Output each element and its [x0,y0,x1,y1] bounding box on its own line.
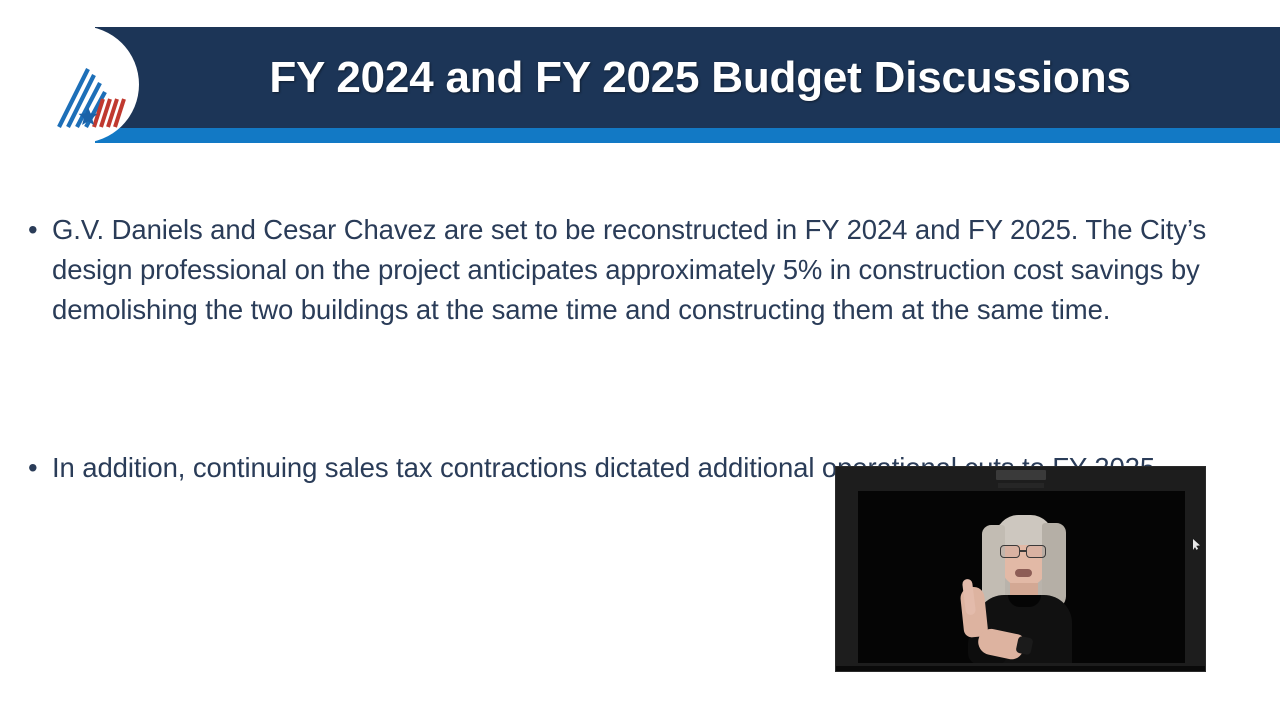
video-stage [858,491,1185,663]
presentation-slide: FY 2024 and FY 2025 Budget Discussions •… [0,0,1280,720]
city-of-arlington-logo-icon [47,67,129,129]
logo-disc [22,26,139,143]
sign-language-interpreter-video[interactable] [835,466,1206,672]
video-bottom-bar [836,666,1206,671]
interpreter-glasses-icon [1000,545,1048,558]
header-accent-underline [95,128,1280,143]
bullet-text: G.V. Daniels and Cesar Chavez are set to… [52,210,1222,330]
page-title: FY 2024 and FY 2025 Budget Discussions [160,27,1240,128]
bullet-marker-icon: • [28,448,52,488]
mouse-cursor-icon [1193,539,1200,550]
bullet-marker-icon: • [28,210,52,250]
glasses-lens-right [1026,545,1046,558]
glasses-lens-left [1000,545,1020,558]
bullet-item: • G.V. Daniels and Cesar Chavez are set … [28,210,1228,330]
interpreter-mouth [1015,569,1032,577]
video-subtitle-bar [998,483,1044,488]
video-title-bar [996,470,1046,480]
